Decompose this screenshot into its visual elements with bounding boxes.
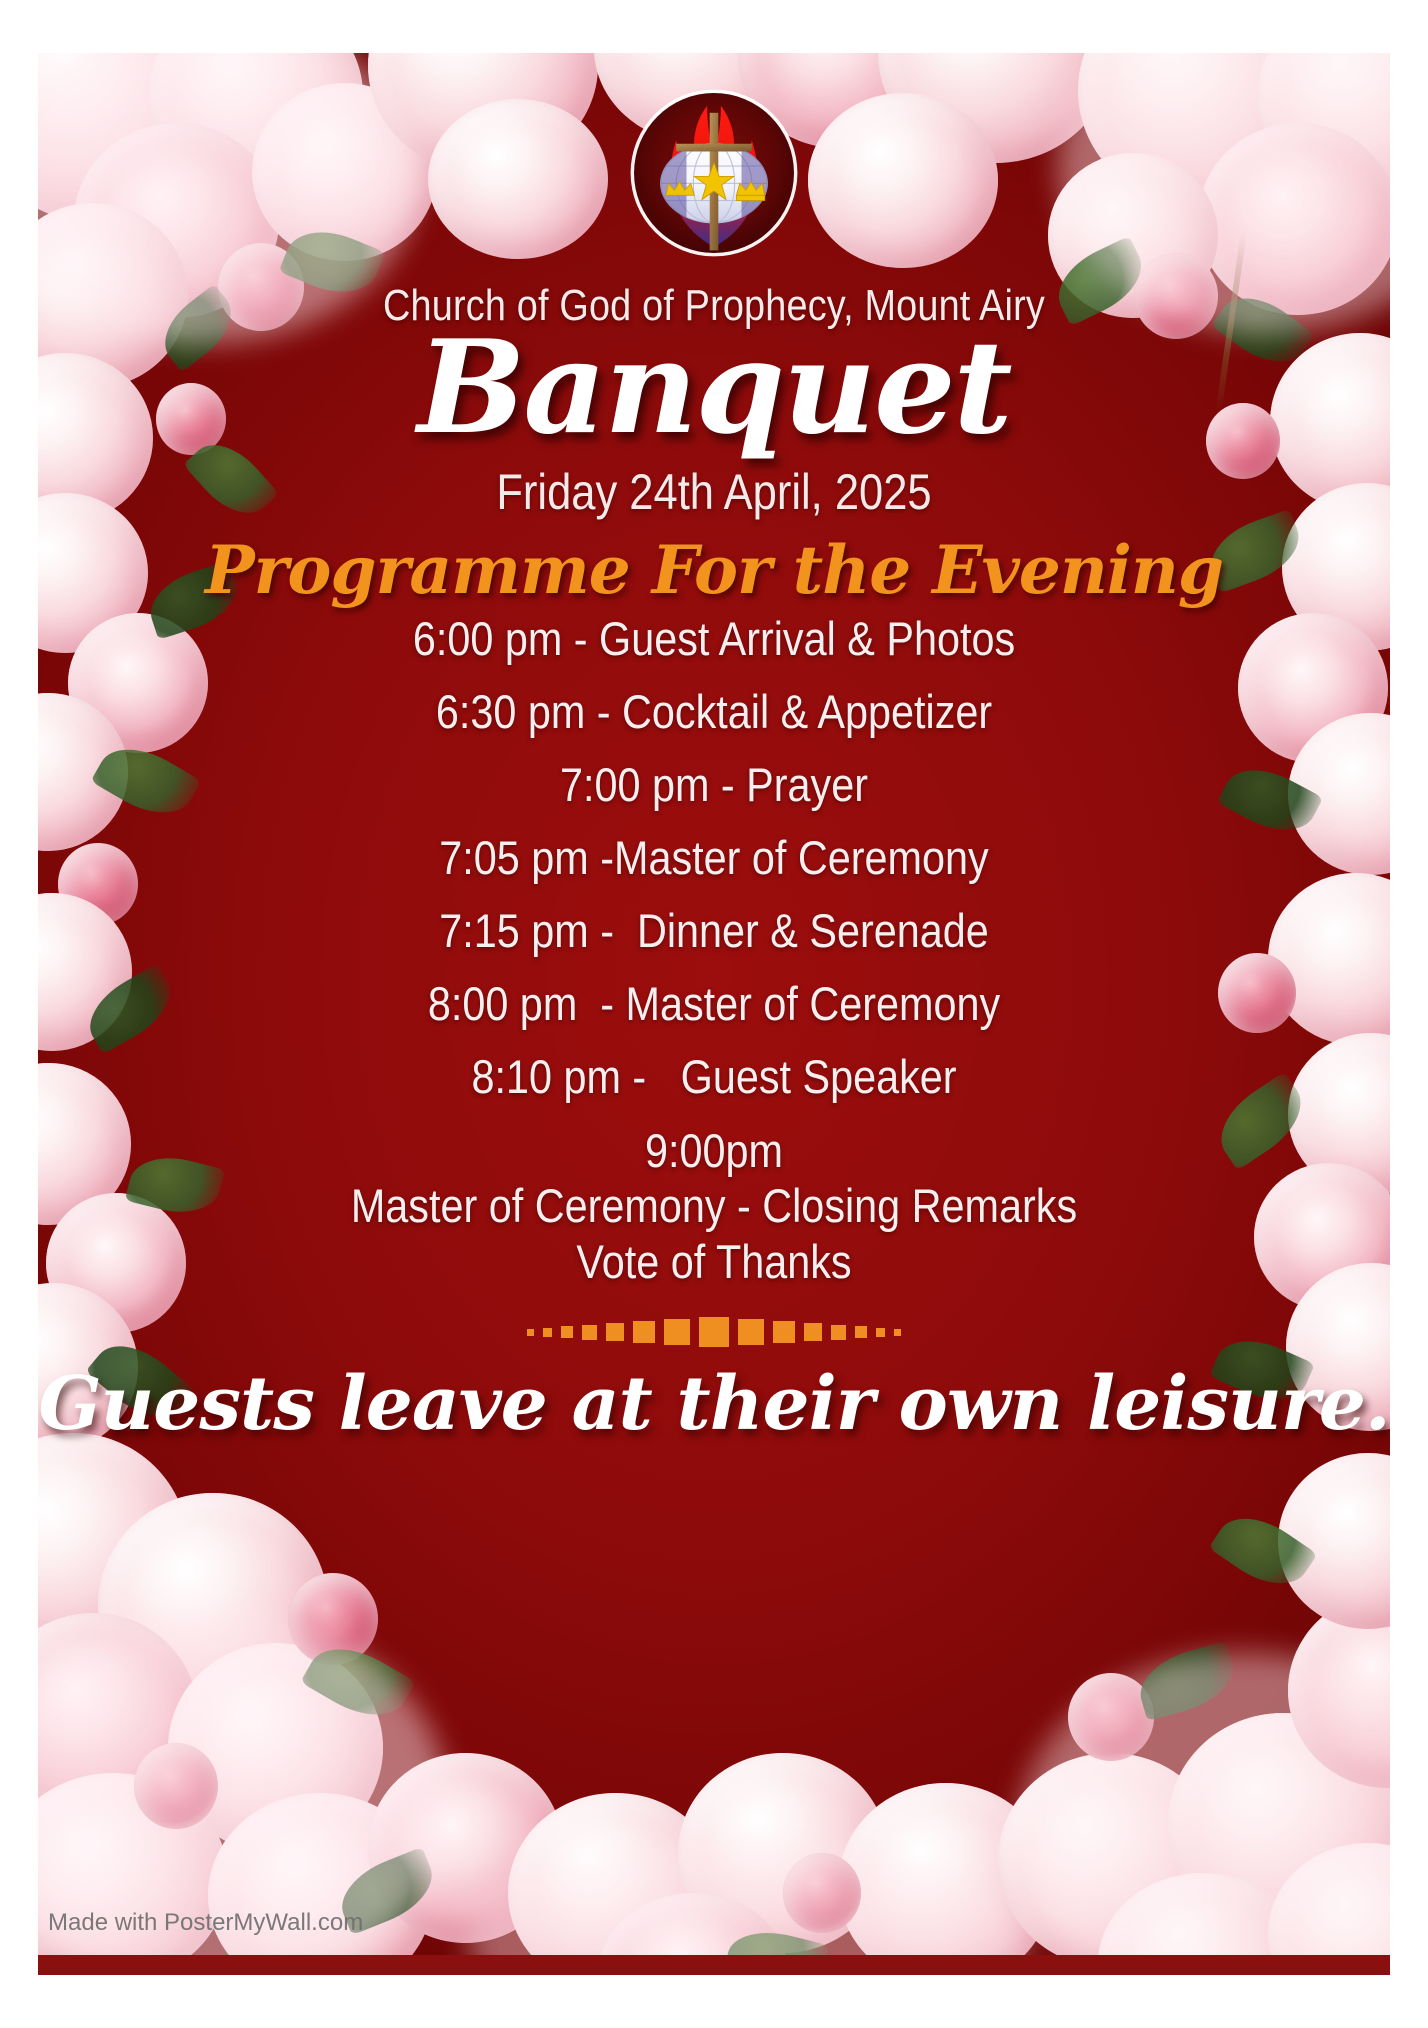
schedule-item: 7:15 pm - Dinner & Serenade	[119, 907, 1309, 954]
divider-square	[855, 1326, 867, 1338]
poster-page: Church of God of Prophecy, Mount Airy Ba…	[0, 0, 1428, 2028]
closing-script-note: Guests leave at their own leisure.	[38, 1361, 1390, 1447]
divider-square	[527, 1329, 534, 1336]
schedule-item: 6:00 pm - Guest Arrival & Photos	[119, 615, 1309, 662]
programme-heading: Programme For the Evening	[38, 531, 1390, 609]
poster-content: Church of God of Prophecy, Mount Airy Ba…	[38, 53, 1390, 1975]
schedule-item: 7:05 pm -Master of Ceremony	[119, 834, 1309, 881]
divider-square	[561, 1326, 573, 1338]
schedule-item: 7:00 pm - Prayer	[119, 761, 1309, 808]
divider-square	[738, 1319, 764, 1345]
divider-square	[664, 1319, 690, 1345]
divider-square	[804, 1323, 822, 1341]
divider-square	[543, 1328, 552, 1337]
schedule-item: 8:10 pm - Guest Speaker	[119, 1053, 1309, 1100]
divider-square	[633, 1321, 655, 1343]
divider-square	[894, 1329, 901, 1336]
vote-of-thanks-line: Vote of Thanks	[119, 1234, 1309, 1289]
page-title: Banquet	[38, 321, 1390, 455]
postermywall-watermark: Made with PosterMyWall.com	[48, 1909, 363, 1937]
divider-square	[606, 1323, 624, 1341]
divider-square	[582, 1325, 597, 1340]
divider-square	[831, 1325, 846, 1340]
programme-schedule-list: 6:00 pm - Guest Arrival & Photos 6:30 pm…	[38, 615, 1390, 1126]
church-of-god-of-prophecy-emblem-icon	[628, 87, 800, 259]
divider-square	[773, 1321, 795, 1343]
divider-square	[699, 1317, 729, 1347]
closing-block: 9:00pm Master of Ceremony - Closing Rema…	[38, 1123, 1390, 1289]
event-date: Friday 24th April, 2025	[126, 463, 1302, 521]
closing-time: 9:00pm	[119, 1123, 1309, 1178]
poster-canvas: Church of God of Prophecy, Mount Airy Ba…	[38, 53, 1390, 1975]
divider-square	[876, 1328, 885, 1337]
church-logo	[628, 87, 800, 259]
schedule-item: 8:00 pm - Master of Ceremony	[119, 980, 1309, 1027]
closing-remarks-line: Master of Ceremony - Closing Remarks	[119, 1178, 1309, 1233]
square-divider	[38, 1315, 1390, 1349]
schedule-item: 6:30 pm - Cocktail & Appetizer	[119, 688, 1309, 735]
